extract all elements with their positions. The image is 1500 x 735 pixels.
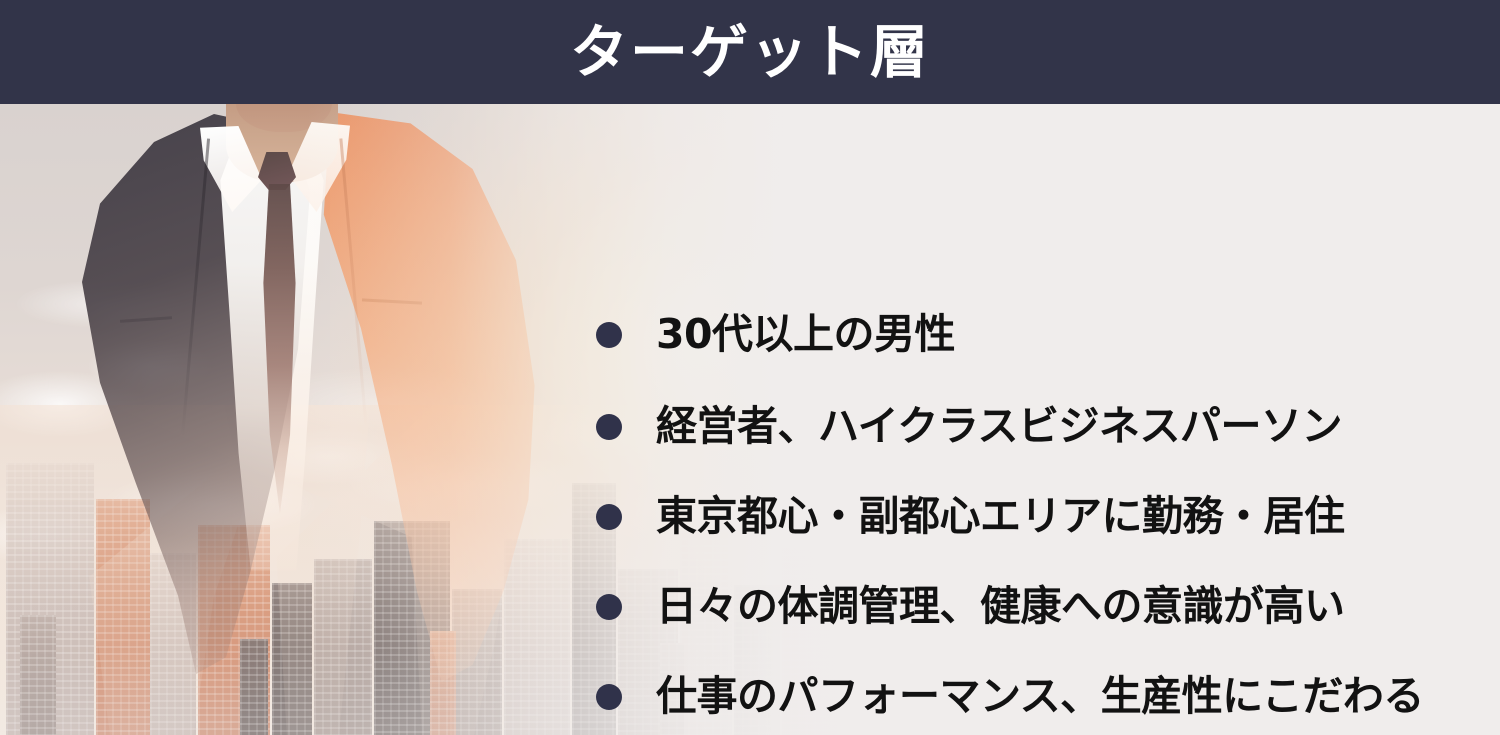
- list-item: 東京都心・副都心エリアに勤務・居住: [596, 496, 1345, 537]
- bullet-dot-icon: [596, 684, 622, 710]
- list-item: 30代以上の男性: [596, 314, 955, 355]
- page-title: ターゲット層: [0, 0, 1500, 104]
- target-audience-list: 30代以上の男性 経営者、ハイクラスビジネスパーソン 東京都心・副都心エリアに勤…: [596, 208, 1476, 735]
- list-item-label: 経営者、ハイクラスビジネスパーソン: [656, 406, 1342, 447]
- bullet-dot-icon: [596, 594, 622, 620]
- target-audience-slide: ターゲット層: [0, 0, 1500, 735]
- list-item-label: 東京都心・副都心エリアに勤務・居住: [656, 496, 1345, 537]
- list-item: 経営者、ハイクラスビジネスパーソン: [596, 406, 1342, 447]
- bullet-dot-icon: [596, 414, 622, 440]
- header-bar: ターゲット層: [0, 0, 1500, 104]
- list-item-label: 30代以上の男性: [656, 314, 955, 355]
- list-item-label: 日々の体調管理、健康への意識が高い: [656, 586, 1345, 627]
- list-item: 日々の体調管理、健康への意識が高い: [596, 586, 1345, 627]
- bullet-dot-icon: [596, 504, 622, 530]
- bullet-dot-icon: [596, 322, 622, 348]
- list-item-label: 仕事のパフォーマンス、生産性にこだわる: [656, 676, 1424, 717]
- list-item: 仕事のパフォーマンス、生産性にこだわる: [596, 676, 1424, 717]
- slide-body: 30代以上の男性 経営者、ハイクラスビジネスパーソン 東京都心・副都心エリアに勤…: [0, 104, 1500, 735]
